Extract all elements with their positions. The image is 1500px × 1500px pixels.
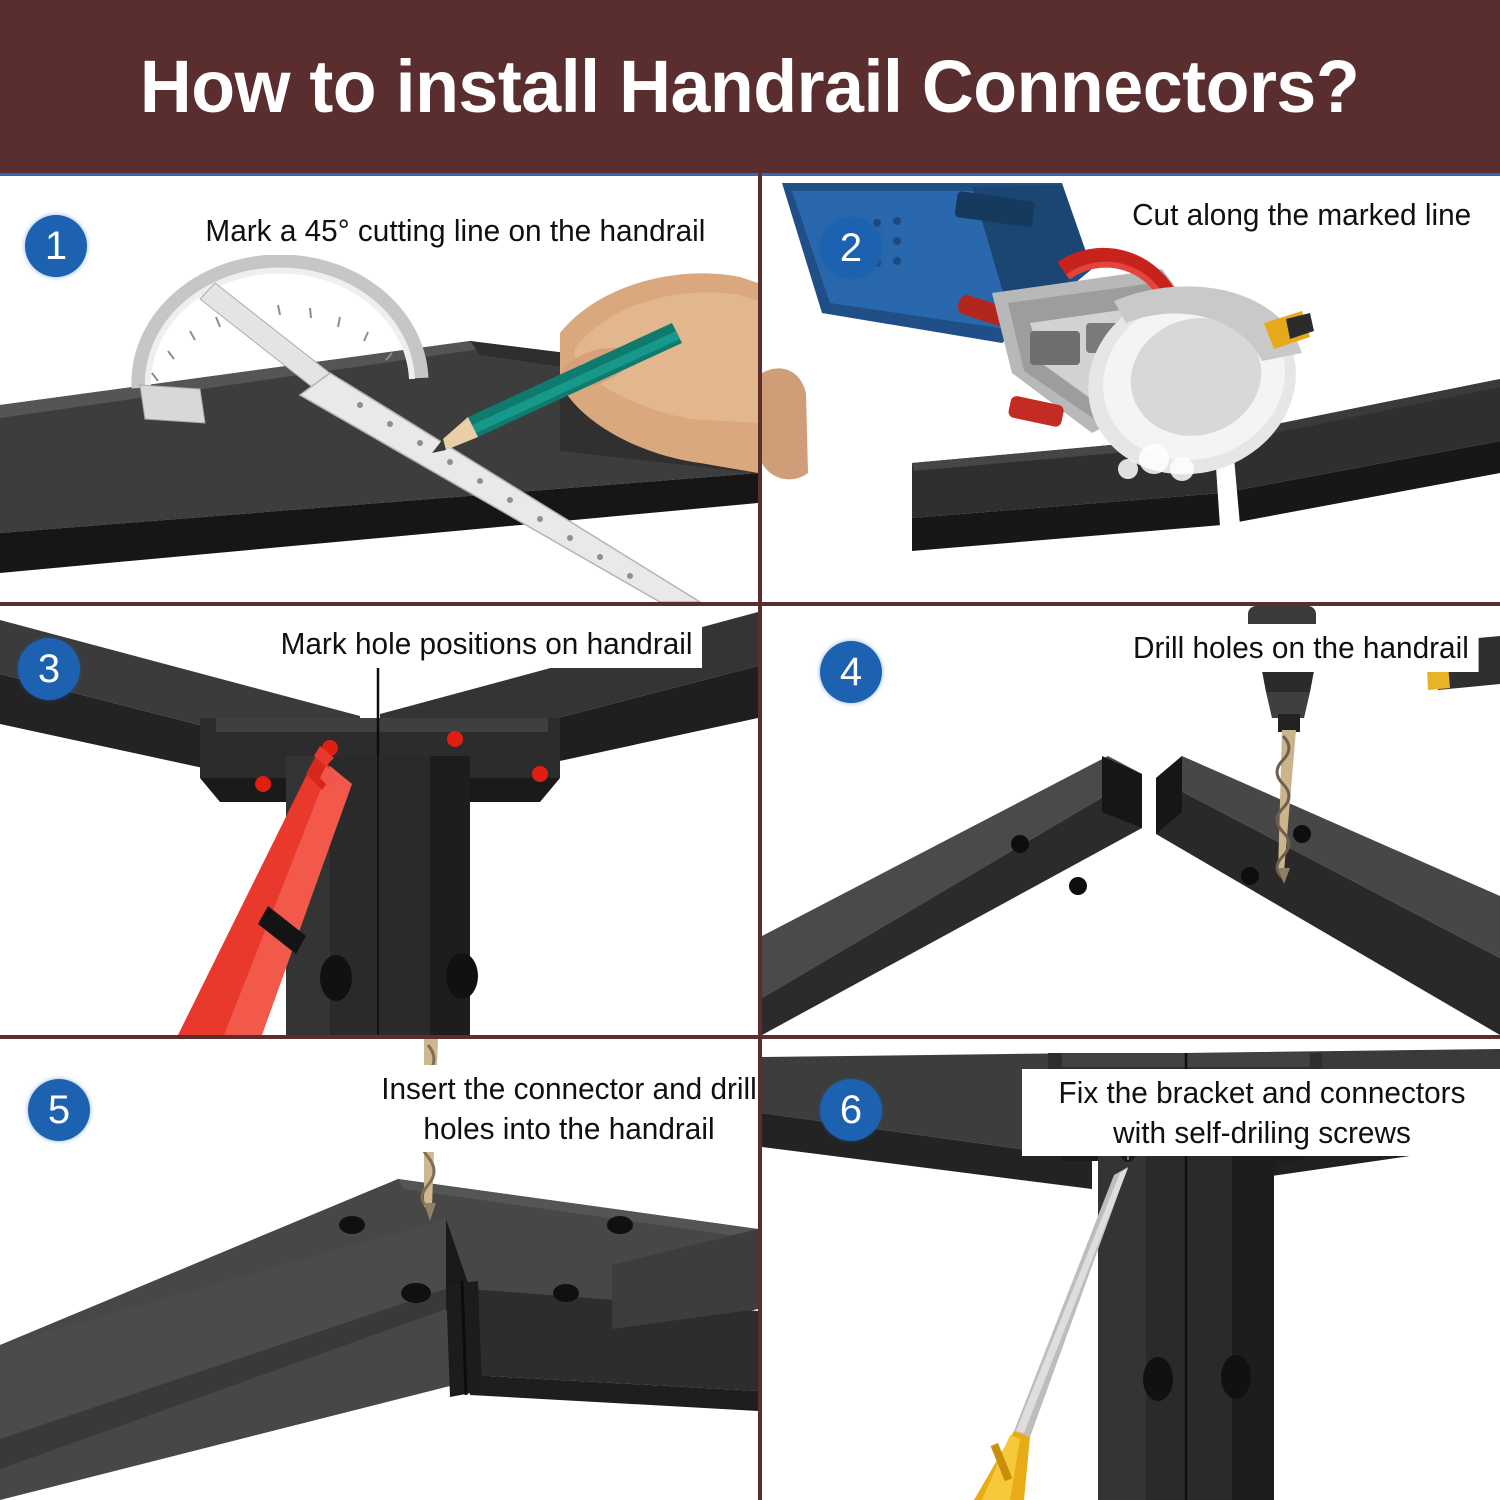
infographic-page: How to install Handrail Connectors? [0, 0, 1500, 1500]
panel-accent-line [0, 173, 758, 176]
step-panel-5: 5 Insert the connector and drill holes i… [0, 1039, 758, 1500]
step-caption-1: Mark a 45° cutting line on the handrail [196, 207, 715, 255]
step-panel-1: 1 Mark a 45° cutting line on the handrai… [0, 173, 758, 602]
steps-grid: 1 Mark a 45° cutting line on the handrai… [0, 173, 1500, 1500]
step-caption-6-line-1: Fix the bracket and connectors [1032, 1073, 1493, 1113]
step-number-badge-4: 4 [820, 641, 882, 703]
step-number-badge-3: 3 [18, 638, 80, 700]
step-caption-5: Insert the connector and drill holes int… [364, 1065, 758, 1152]
step-caption-4: Drill holes on the handrail [1124, 624, 1479, 672]
step-panel-4: 4 Drill holes on the handrail [762, 606, 1500, 1035]
step-caption-3: Mark hole positions on handrail [271, 620, 702, 668]
step-caption-2: Cut along the marked line [1122, 191, 1480, 239]
step-number-badge-6: 6 [820, 1079, 882, 1141]
page-title: How to install Handrail Connectors? [140, 44, 1359, 129]
step-number-badge-1: 1 [25, 215, 87, 277]
step-number-badge-5: 5 [28, 1079, 90, 1141]
step-caption-5-line-2: holes into the handrail [373, 1109, 758, 1149]
step-3-illustration [0, 606, 758, 1035]
step-caption-6: Fix the bracket and connectors with self… [1022, 1069, 1500, 1156]
step-panel-3: 3 Mark hole positions on handrail [0, 606, 758, 1035]
step-caption-6-line-2: with self-driling screws [1032, 1113, 1493, 1153]
step-number-badge-2: 2 [820, 217, 882, 279]
step-panel-2: 2 Cut along the marked line [762, 173, 1500, 602]
header-banner: How to install Handrail Connectors? [0, 0, 1500, 173]
step-caption-5-line-1: Insert the connector and drill [373, 1069, 758, 1109]
panel-accent-line [762, 173, 1500, 176]
step-panel-6: 6 Fix the bracket and connectors with se… [762, 1039, 1500, 1500]
